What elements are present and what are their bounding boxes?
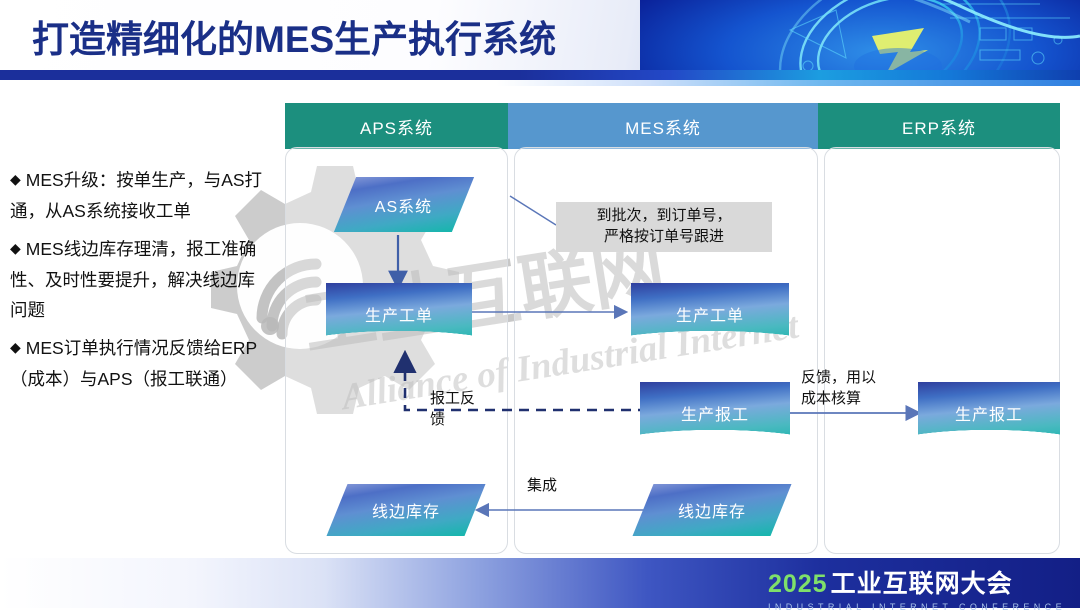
- callout-order-tracking-text: 到批次，到订单号， 严格按订单号跟进: [596, 207, 731, 245]
- bullet-diamond-icon: ◆: [10, 339, 21, 355]
- label-cost-accounting: 反馈，用以 成本核算: [801, 367, 921, 409]
- list-item: ◆MES订单执行情况反馈给ERP（成本）与APS（报工联通）: [10, 333, 272, 394]
- conference-year: 2025: [768, 570, 828, 599]
- list-item: ◆MES线边库存理清，报工准确性、及时性要提升，解决线边库问题: [10, 234, 272, 325]
- conference-name-en: INDUSTRIAL INTERNET CONFERENCE: [768, 602, 1066, 612]
- node-mes-production-order[interactable]: 生产工单: [631, 283, 789, 345]
- bullet-list: ◆MES升级：按单生产，与AS打通，从AS系统接收工单 ◆MES线边库存理清，报…: [10, 165, 272, 402]
- node-mes-production-order-label: 生产工单: [676, 302, 744, 326]
- node-aps-as-system[interactable]: AS系统: [334, 177, 474, 232]
- node-erp-production-report[interactable]: 生产报工: [918, 382, 1060, 444]
- node-mes-production-report[interactable]: 生产报工: [640, 382, 790, 444]
- bullet-diamond-icon: ◆: [10, 240, 21, 256]
- callout-order-tracking: 到批次，到订单号， 严格按订单号跟进: [556, 202, 772, 252]
- slide-footer: 2025 工业互联网大会 INDUSTRIAL INTERNET CONFERE…: [0, 558, 1080, 608]
- label-work-report-feedback: 报工反 馈: [430, 388, 500, 430]
- bullet-text: MES升级：按单生产，与AS打通，从AS系统接收工单: [10, 170, 262, 221]
- conference-logo: 2025 工业互联网大会 INDUSTRIAL INTERNET CONFERE…: [768, 564, 1066, 612]
- node-mes-line-stock[interactable]: 线边库存: [632, 484, 791, 536]
- list-item: ◆MES升级：按单生产，与AS打通，从AS系统接收工单: [10, 165, 272, 226]
- node-mes-line-stock-label: 线边库存: [678, 498, 746, 522]
- bullet-diamond-icon: ◆: [10, 171, 21, 187]
- node-aps-production-order-label: 生产工单: [365, 302, 433, 326]
- node-erp-production-report-label: 生产报工: [955, 401, 1023, 425]
- label-integration: 集成: [527, 475, 557, 496]
- node-aps-as-system-label: AS系统: [375, 193, 432, 217]
- node-mes-production-report-label: 生产报工: [681, 401, 749, 425]
- node-aps-line-stock[interactable]: 线边库存: [326, 484, 485, 536]
- node-aps-production-order[interactable]: 生产工单: [326, 283, 472, 345]
- bullet-text: MES线边库存理清，报工准确性、及时性要提升，解决线边库问题: [10, 239, 256, 320]
- node-aps-line-stock-label: 线边库存: [372, 498, 440, 522]
- bullet-text: MES订单执行情况反馈给ERP（成本）与APS（报工联通）: [10, 338, 257, 389]
- conference-name-cn: 工业互联网大会: [831, 564, 1013, 600]
